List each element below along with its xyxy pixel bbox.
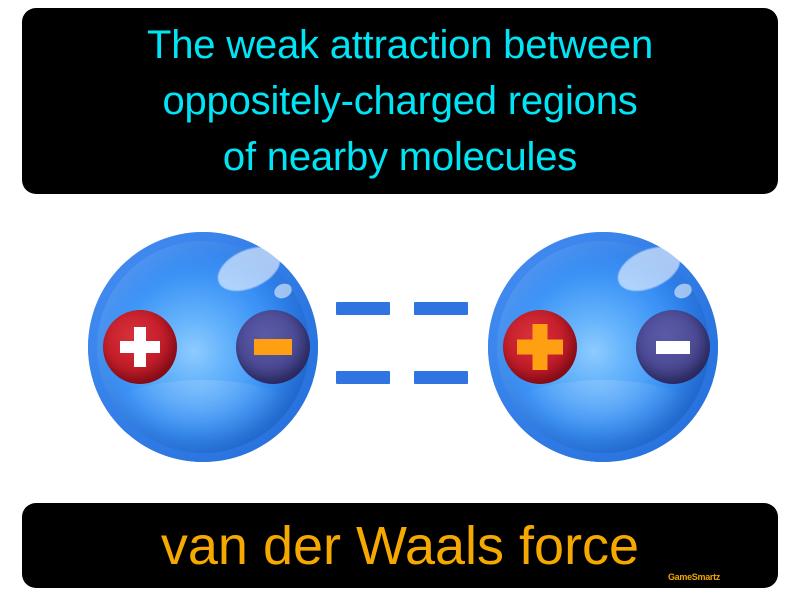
sphere-bottom-gloss <box>104 380 302 450</box>
molecule-illustration <box>0 196 800 496</box>
bond-dash <box>414 371 468 384</box>
bond-dash <box>414 302 468 315</box>
negative-charge-right <box>636 310 710 384</box>
term-panel: van der Waals force GameSmartz <box>22 503 778 588</box>
sphere-highlight-small <box>272 281 294 301</box>
plus-sign-icon <box>120 327 160 367</box>
plus-sign-icon <box>517 324 563 370</box>
molecule-right <box>488 232 718 462</box>
sphere-highlight-small <box>672 281 694 301</box>
definition-text: The weak attraction between oppositely-c… <box>37 17 763 185</box>
definition-card: The weak attraction between oppositely-c… <box>0 0 800 600</box>
minus-sign-icon <box>254 339 292 355</box>
watermark: GameSmartz <box>668 572 720 582</box>
term-text: van der Waals force <box>161 517 639 575</box>
positive-charge-right <box>503 310 577 384</box>
definition-panel: The weak attraction between oppositely-c… <box>22 8 778 194</box>
bond-dash <box>336 371 390 384</box>
bond-dash <box>336 302 390 315</box>
sphere-bottom-gloss <box>504 380 702 450</box>
dashed-attraction-lines <box>336 296 468 386</box>
negative-charge-left <box>236 310 310 384</box>
positive-charge-left <box>103 310 177 384</box>
molecule-left <box>88 232 318 462</box>
minus-sign-icon <box>656 341 690 354</box>
